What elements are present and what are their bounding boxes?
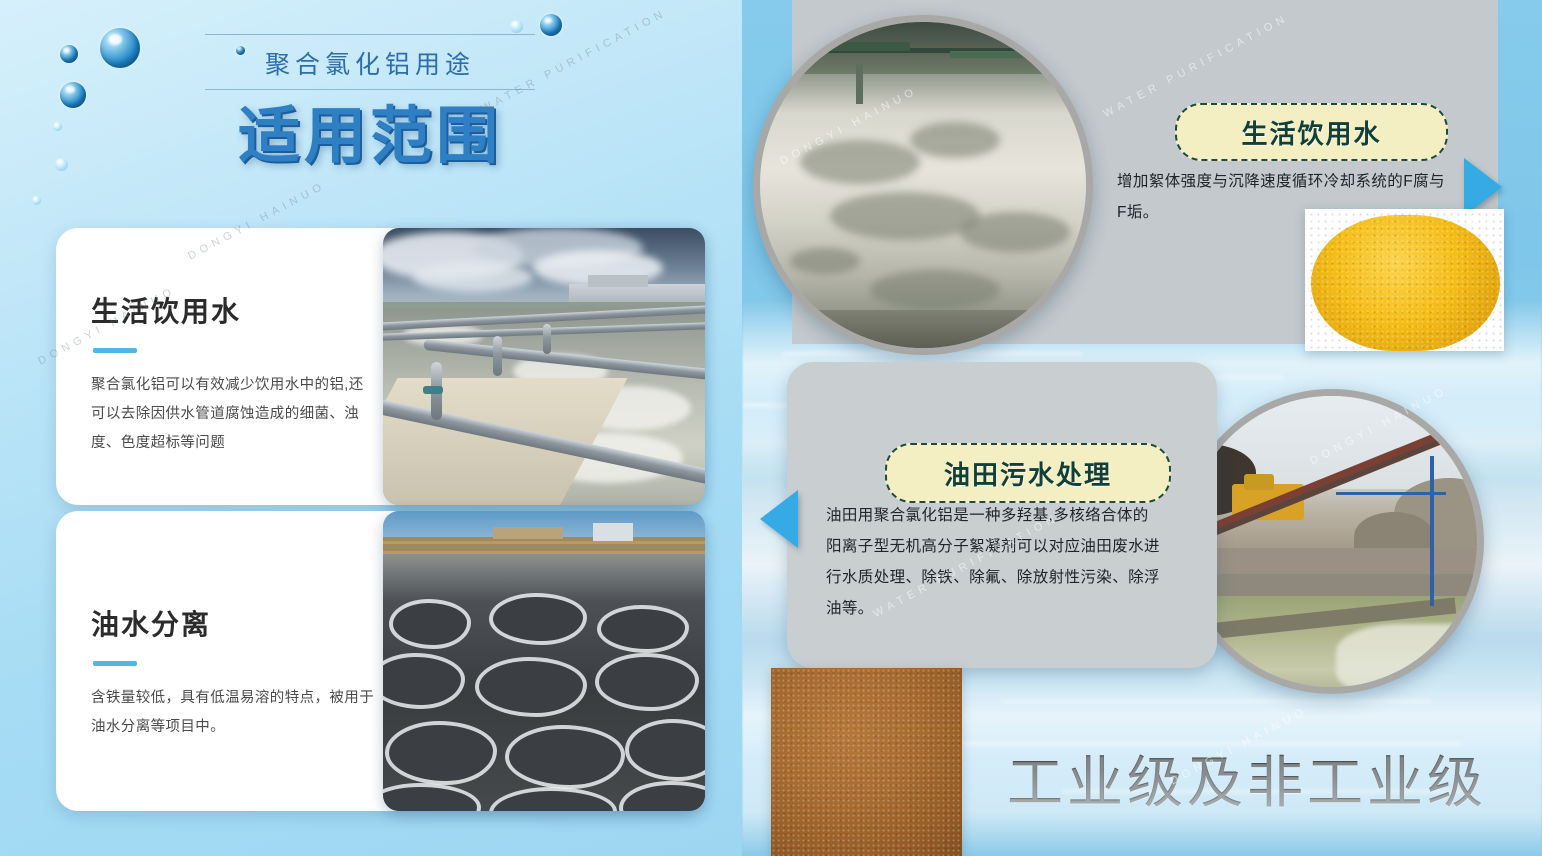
sedimentation-basin-photo <box>753 15 1093 355</box>
left-panel: 聚合氯化铝用途 适用范围 生活饮用水 聚合氯化铝可以有效减少饮用水中的铝,还可以… <box>0 0 742 856</box>
header-subtitle: 聚合氯化铝用途 <box>205 35 535 89</box>
brown-pac-granule <box>771 668 962 856</box>
water-bubble-icon <box>55 158 68 171</box>
footer-title: 工业级及非工业级 <box>1007 738 1487 819</box>
water-bubble-icon <box>100 28 140 68</box>
aeration-foam-tank-photo <box>383 511 705 811</box>
badge-label: 生活饮用水 <box>1241 114 1381 151</box>
water-bubble-icon <box>32 196 41 205</box>
oilfield-treatment-site-photo <box>1179 389 1484 694</box>
water-bubble-icon <box>60 82 86 108</box>
header-rule-bottom <box>205 89 535 90</box>
card-body: 含铁量较低，具有低温易溶的特点，被用于油水分离等项目中。 <box>91 684 376 742</box>
water-bubble-icon <box>540 14 562 36</box>
right-block-body: 油田用聚合氯化铝是一种多羟基,多核络合体的阳离子型无机高分子絮凝剂可以对应油田废… <box>826 500 1162 624</box>
accent-bar <box>93 348 137 353</box>
accent-bar <box>93 661 137 666</box>
card-text-block: 油水分离 含铁量较低，具有低温易溶的特点，被用于油水分离等项目中。 <box>91 603 376 742</box>
poster-root: 聚合氯化铝用途 适用范围 生活饮用水 聚合氯化铝可以有效减少饮用水中的铝,还可以… <box>0 0 1542 856</box>
badge-oilfield-wastewater: 油田污水处理 <box>885 443 1171 503</box>
arrow-right-icon <box>1464 158 1502 216</box>
right-panel: 生活饮用水 增加絮体强度与沉降速度循环冷却系统的F腐与F垢。 <box>742 0 1542 856</box>
badge-drinking-water: 生活饮用水 <box>1175 103 1448 161</box>
card-title: 油水分离 <box>91 603 376 643</box>
card-body: 聚合氯化铝可以有效减少饮用水中的铝,还可以去除因供水管道腐蚀造成的细菌、浊度、色… <box>91 371 376 458</box>
water-treatment-plant-photo <box>383 228 705 505</box>
water-bubble-icon <box>60 45 78 63</box>
water-bubble-icon <box>53 122 62 131</box>
arrow-left-icon <box>760 490 798 548</box>
badge-label: 油田污水处理 <box>944 455 1112 492</box>
header-title: 适用范围 <box>205 106 535 168</box>
water-bubble-icon <box>510 20 523 33</box>
yellow-pac-powder <box>1305 209 1504 351</box>
